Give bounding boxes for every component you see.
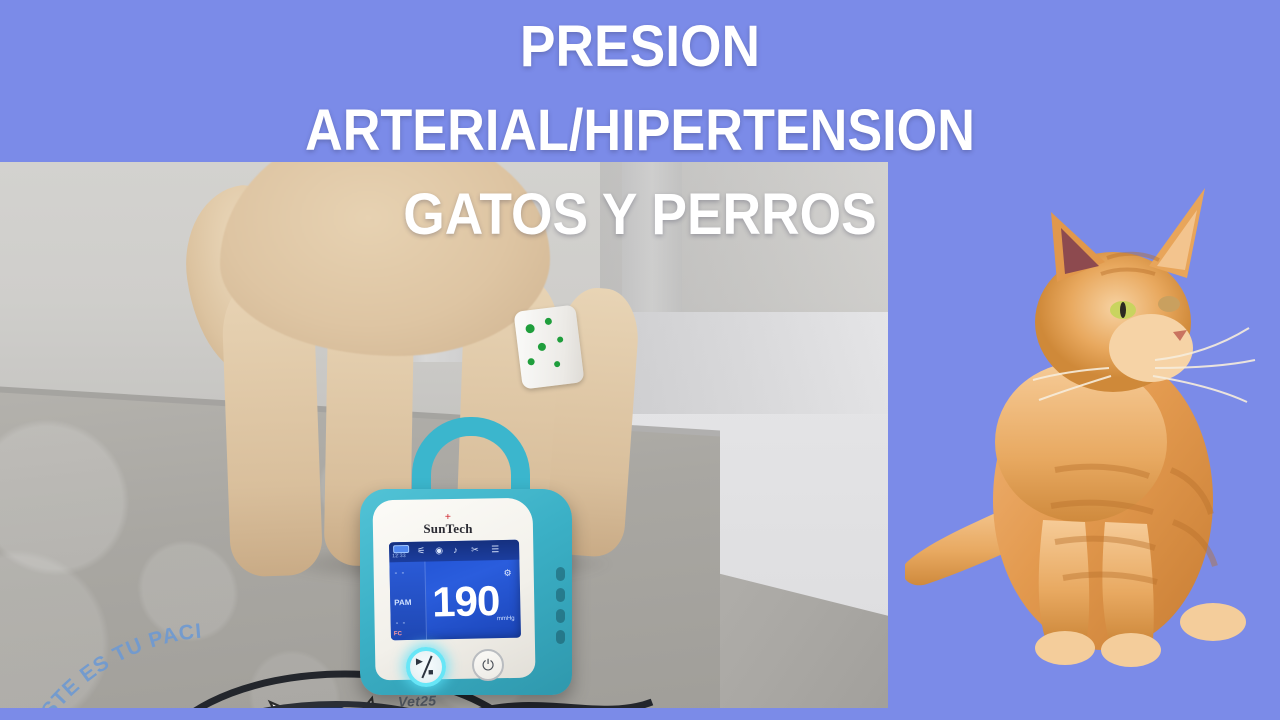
cat-paw-left	[1035, 631, 1095, 665]
dog-body	[220, 162, 550, 356]
vet-clinic-photo: AMOS QUE ESTE ES TU PACI	[0, 162, 888, 708]
systolic-value: - -	[395, 568, 406, 577]
target-icon[interactable]: ◉	[435, 545, 443, 555]
stop-square-icon: ■	[428, 667, 434, 677]
diastolic-value: - -	[396, 618, 407, 627]
bp-reading-value: 190	[432, 580, 500, 623]
title-line-1: PRESION	[51, 18, 1229, 76]
monitor-screen[interactable]: 12:33 ⚟ ◉ ♪ ✂ ☰ - - PAM - - FC ⚙ 190 mmH…	[389, 540, 521, 641]
thumbnail-canvas: AMOS QUE ESTE ES TU PACI	[0, 0, 1280, 720]
battery-icon	[393, 545, 409, 553]
cat-eye-right	[1158, 296, 1180, 312]
suntech-vet25-monitor: + SunTech 12:33 ⚟ ◉ ♪ ✂ ☰ - - PAM - - FC…	[350, 417, 580, 707]
tools-icon[interactable]: ✂	[471, 544, 479, 554]
bluetooth-icon: ⚟	[417, 546, 425, 556]
cat-pupil-left	[1120, 302, 1126, 318]
cat-ear-right-inner	[1157, 210, 1197, 270]
cat-maine-coon	[905, 170, 1275, 715]
title-line-2: ARTERIAL/HIPERTENSION	[64, 102, 1216, 160]
cat-muzzle	[1109, 314, 1193, 382]
screen-side-panel: - - PAM - - FC	[389, 562, 427, 641]
cat-paw-rear	[1180, 603, 1246, 641]
cat-ear-left-inner	[1061, 228, 1099, 274]
suntech-logo-text: SunTech	[423, 521, 472, 536]
monitor-model-label: Vet25	[398, 692, 437, 708]
menu-icon[interactable]: ☰	[491, 544, 499, 554]
heart-rate-label: FC	[394, 631, 402, 637]
monitor-vents	[556, 567, 566, 645]
bp-cuff-on-leg	[513, 305, 584, 390]
suntech-logo-mark: +	[398, 513, 498, 521]
bp-reading-unit: mmHg	[497, 616, 515, 622]
power-button[interactable]: ⏻	[472, 649, 504, 681]
speaker-mute-icon[interactable]: ♪	[453, 545, 458, 555]
play-triangle-icon: ▶	[416, 656, 423, 667]
suntech-logo: + SunTech	[398, 513, 498, 537]
pam-label: PAM	[394, 598, 411, 607]
cat-paw-right	[1101, 633, 1161, 667]
settings-gear-icon[interactable]: ⚙	[503, 568, 511, 579]
screen-clock: 12:33	[392, 553, 406, 559]
